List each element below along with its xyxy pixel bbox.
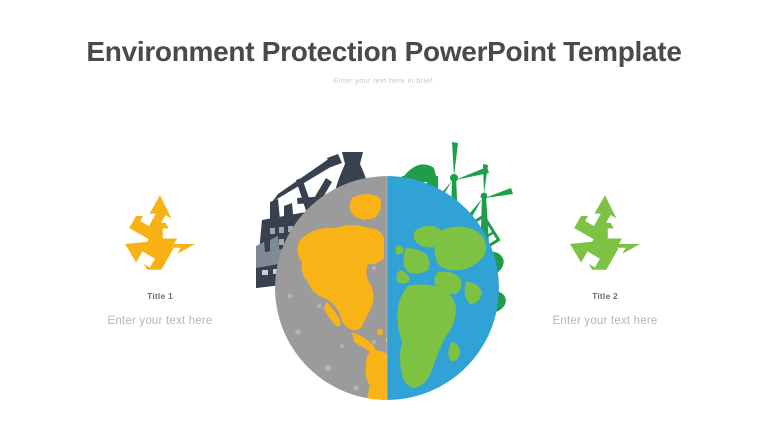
column-title-right: Title 2 xyxy=(490,291,720,301)
split-earth-globe xyxy=(256,136,518,402)
slide-canvas: Environment Protection PowerPoint Templa… xyxy=(0,0,768,432)
recycle-icon xyxy=(559,187,651,279)
recycle-icon xyxy=(114,187,206,279)
content-column-left: Title 1 Enter your text here xyxy=(45,185,275,327)
column-body-right: Enter your text here xyxy=(490,315,720,327)
recycle-icon-right-wrap xyxy=(490,185,720,281)
page-title: Environment Protection PowerPoint Templa… xyxy=(0,36,768,68)
column-title-left: Title 1 xyxy=(45,291,275,301)
content-column-right: Title 2 Enter your text here xyxy=(490,185,720,327)
recycle-icon-left-wrap xyxy=(45,185,275,281)
page-subtitle: Enter your text here in brief. xyxy=(0,76,768,85)
earth-sphere xyxy=(275,176,499,415)
column-body-left: Enter your text here xyxy=(45,315,275,327)
